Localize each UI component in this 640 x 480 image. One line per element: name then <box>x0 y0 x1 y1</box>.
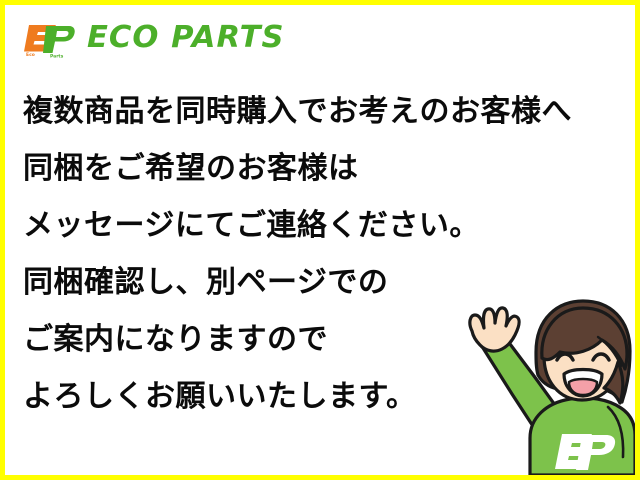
message-line-2: 同梱をご希望のお客様は <box>23 140 629 197</box>
promo-banner: Eco Parts ECO PARTS 複数商品を同時購入でお考えのお客様へ 同… <box>0 0 640 480</box>
brand-header: Eco Parts ECO PARTS <box>21 15 281 61</box>
waving-girl-mascot-illustration <box>430 290 635 475</box>
brand-name: ECO PARTS <box>87 23 285 53</box>
message-line-1: 複数商品を同時購入でお考えのお客様へ <box>23 83 629 140</box>
svg-text:Eco: Eco <box>26 52 35 58</box>
eco-parts-ep-logo-icon: Eco Parts <box>21 18 77 58</box>
message-line-3: メッセージにてご連絡ください。 <box>23 197 629 254</box>
svg-text:Parts: Parts <box>50 54 64 59</box>
